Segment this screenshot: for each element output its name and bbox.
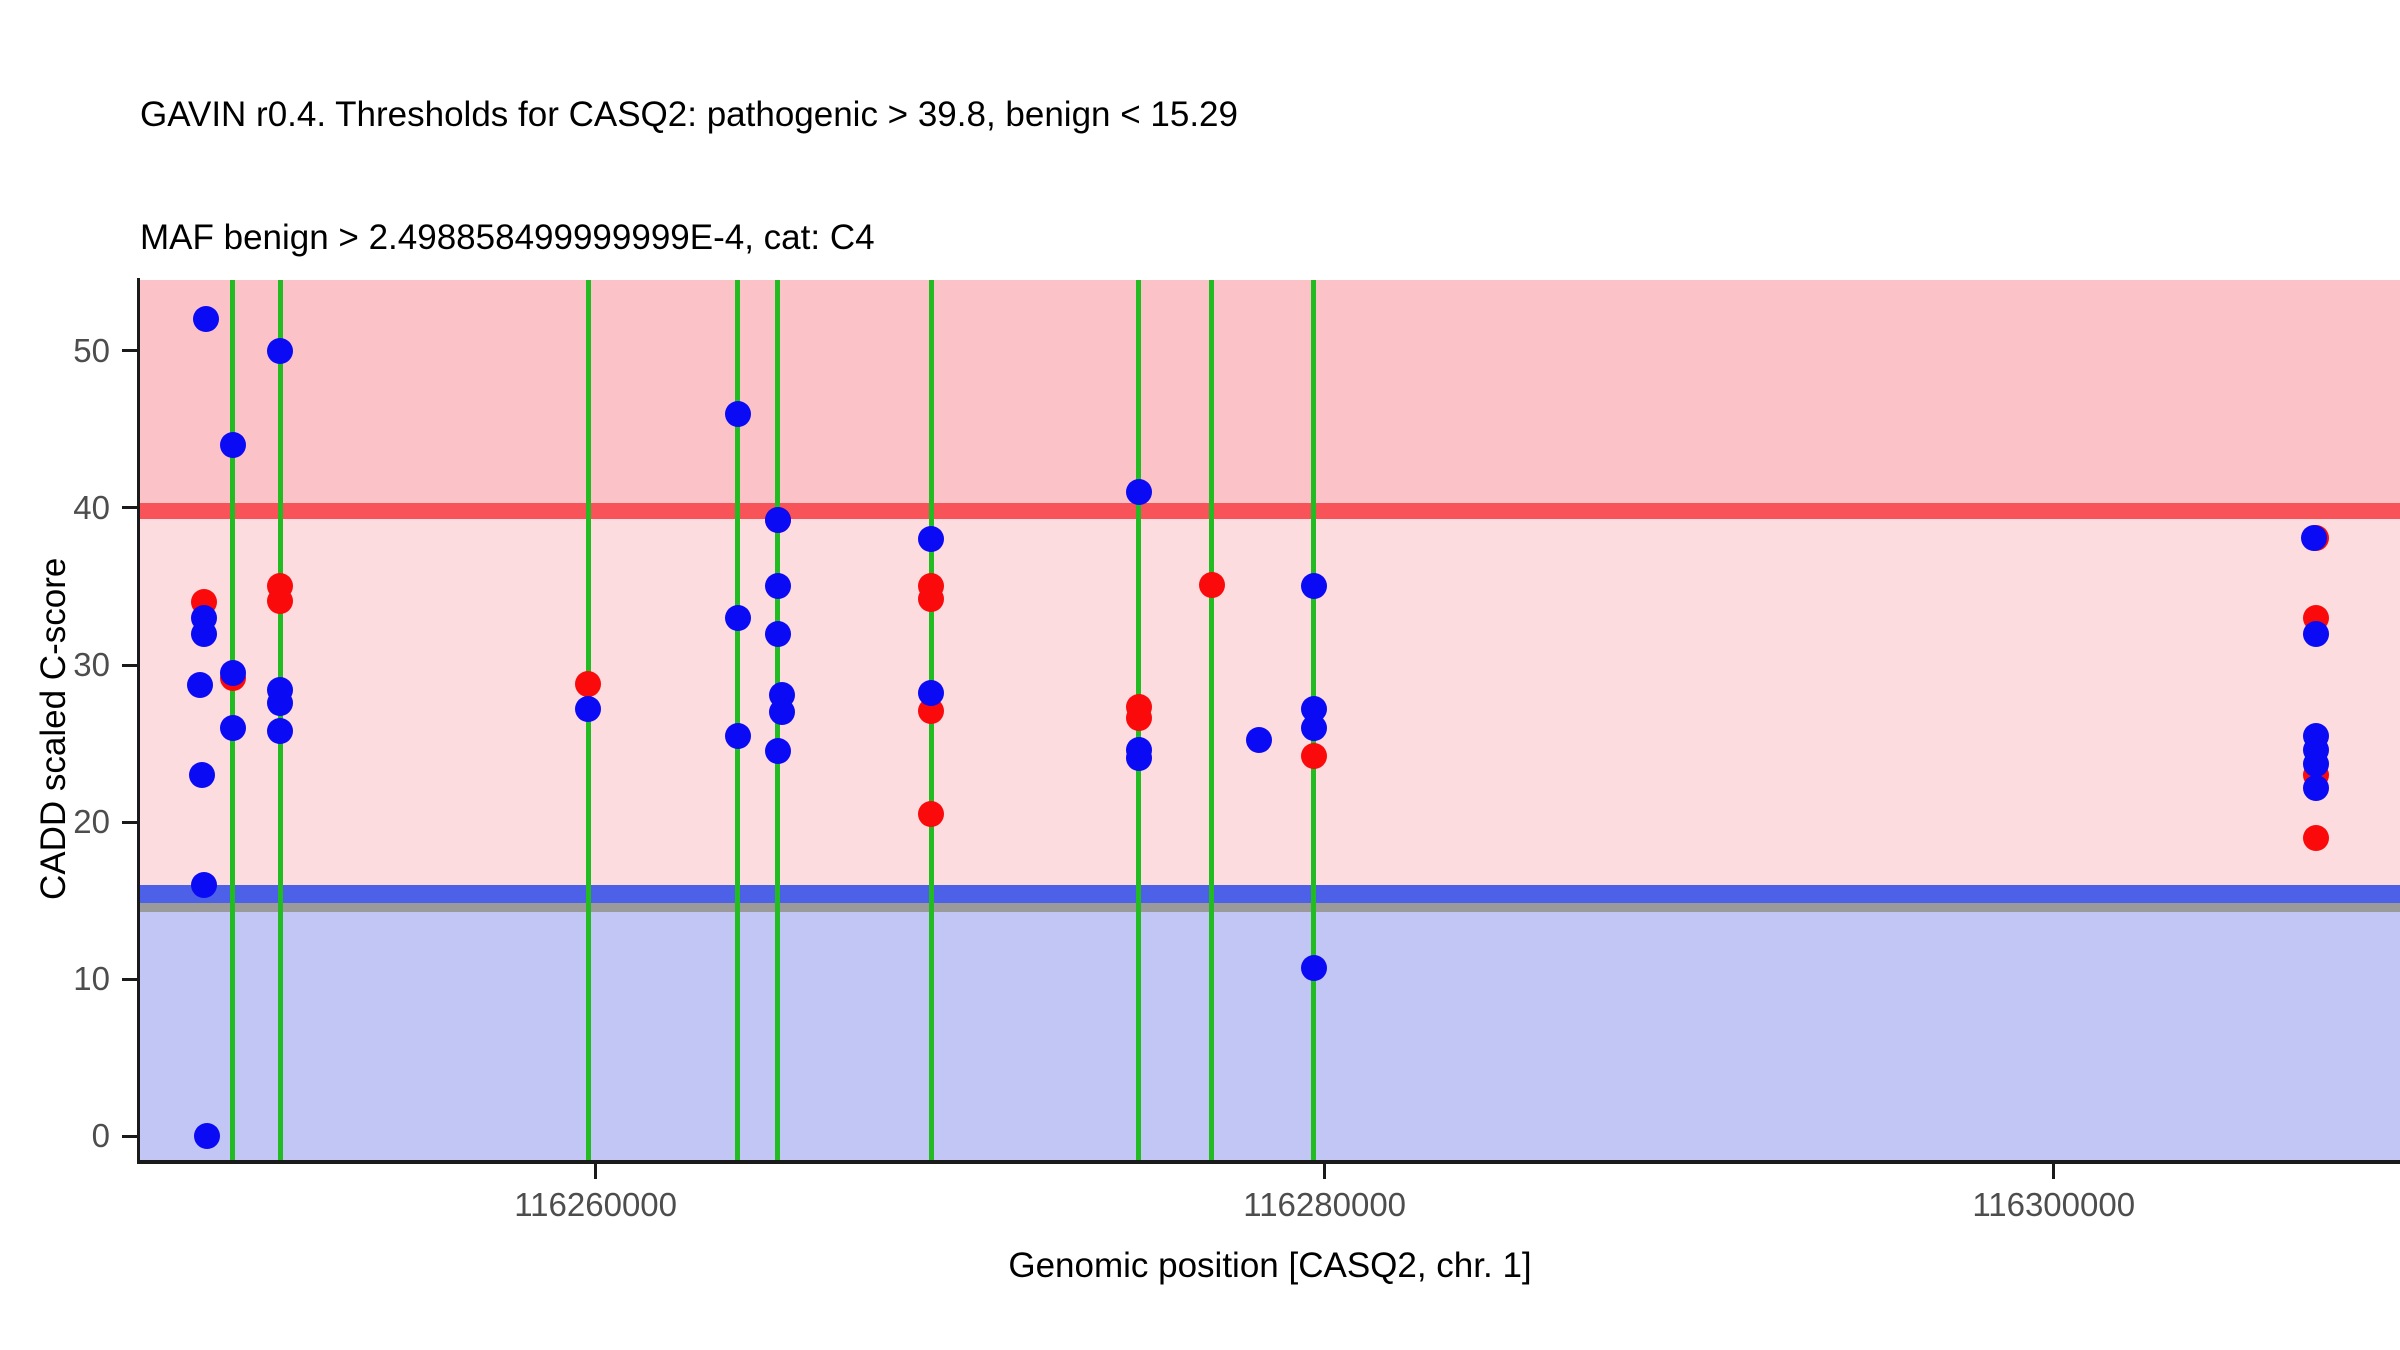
pathogenic-variant-point [1199,572,1225,598]
title-line-2: MAF benign > 2.498858499999999E-4, cat: … [140,217,2340,258]
pathogenic-variant-point [575,671,601,697]
x-tick-mark [2052,1164,2055,1179]
benign-variant-point [189,762,215,788]
y-tick-label: 10 [0,960,110,998]
benign-variant-point [725,401,751,427]
benign-variant-point [1301,715,1327,741]
plot-root: GAVIN r0.4. Thresholds for CASQ2: pathog… [0,0,2400,1350]
exon-line-7 [1209,280,1214,1160]
benign-variant-point [725,723,751,749]
benign-variant-point [191,872,217,898]
pathogenic-variant-point [1301,743,1327,769]
y-tick-label: 40 [0,489,110,527]
benign-variant-point [1301,573,1327,599]
x-tick-mark [594,1164,597,1179]
y-tick-mark [122,506,137,509]
benign-variant-point [267,338,293,364]
y-axis-label: CADD scaled C-score [34,558,74,900]
benign-variant-point [769,699,795,725]
benign-variant-point [220,660,246,686]
benign-variant-point [193,306,219,332]
fallback-threshold-line [140,903,2400,912]
pathogenic-zone-fill [140,280,2400,511]
benign-variant-point [765,621,791,647]
x-tick-mark [1323,1164,1326,1179]
y-tick-mark [122,664,137,667]
y-tick-mark [122,978,137,981]
y-tick-label: 0 [0,1117,110,1155]
benign-variant-point [2303,751,2329,777]
benign-variant-point [2303,621,2329,647]
y-tick-mark [122,1135,137,1138]
benign-variant-point [1126,745,1152,771]
x-tick-label: 116300000 [1972,1186,2135,1224]
benign-variant-point [1301,955,1327,981]
x-axis-label: Genomic position [CASQ2, chr. 1] [140,1246,2400,1286]
benign-variant-point [220,432,246,458]
intermediate-zone-fill [140,511,2400,896]
pathogenic-variant-point [918,586,944,612]
pathogenic-variant-point [2303,825,2329,851]
x-tick-label: 116280000 [1243,1186,1406,1224]
y-tick-mark [122,349,137,352]
pathogenic-variant-point [267,588,293,614]
title-line-1: GAVIN r0.4. Thresholds for CASQ2: pathog… [140,94,2340,135]
benign-zone-fill [140,907,2400,1160]
benign-variant-point [1126,479,1152,505]
benign-variant-point [191,621,217,647]
x-axis-line [137,1160,2400,1164]
y-tick-label: 50 [0,332,110,370]
y-axis-line [137,278,140,1162]
benign-variant-point [220,715,246,741]
benign-variant-point [267,690,293,716]
benign-variant-point [2301,525,2327,551]
scatter-plot-panel [140,280,2400,1160]
pathogenic-threshold-line [140,503,2400,519]
benign-variant-point [2303,775,2329,801]
x-tick-label: 116260000 [514,1186,677,1224]
benign-variant-point [725,605,751,631]
y-tick-mark [122,821,137,824]
